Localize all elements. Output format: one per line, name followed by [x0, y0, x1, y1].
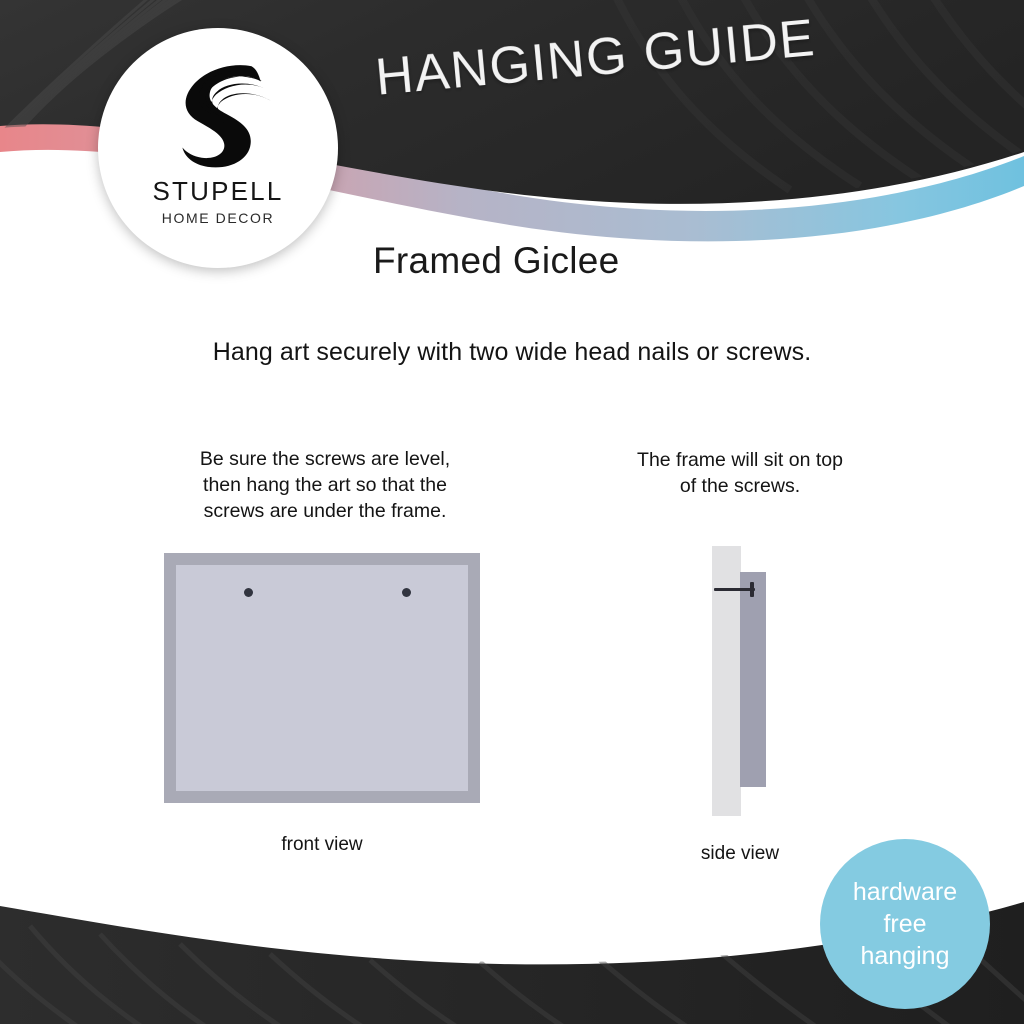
front-caption-line-1: Be sure the screws are level, [160, 446, 490, 472]
screw-dot-left-icon [244, 588, 253, 597]
side-view-wall [712, 546, 741, 816]
hanging-guide-page: STUPELL HOME DECOR HANGING GUIDE Framed … [0, 0, 1024, 1024]
front-view-art-panel [176, 565, 468, 791]
badge-line-2: free [883, 908, 926, 940]
brand-logo-badge: STUPELL HOME DECOR [98, 28, 338, 268]
front-view-caption: Be sure the screws are level, then hang … [160, 446, 490, 524]
badge-line-3: hanging [861, 940, 950, 972]
screw-dot-right-icon [402, 588, 411, 597]
badge-line-1: hardware [853, 876, 957, 908]
side-caption-line-2: of the screws. [596, 473, 884, 499]
front-view-label: front view [164, 834, 480, 856]
side-view-label: side view [640, 843, 840, 865]
stupell-swoosh-icon [157, 54, 279, 174]
hardware-free-hanging-badge: hardware free hanging [820, 839, 990, 1009]
front-view-frame-diagram [164, 553, 480, 803]
front-caption-line-3: screws are under the frame. [160, 498, 490, 524]
side-caption-line-1: The frame will sit on top [596, 447, 884, 473]
side-view-frame [740, 572, 766, 787]
brand-name: STUPELL [152, 176, 283, 207]
page-title: HANGING GUIDE [373, 8, 818, 108]
side-view-caption: The frame will sit on top of the screws. [596, 447, 884, 499]
lead-instruction: Hang art securely with two wide head nai… [0, 338, 1024, 367]
nail-head-icon [750, 582, 754, 597]
front-caption-line-2: then hang the art so that the [160, 472, 490, 498]
brand-tagline: HOME DECOR [162, 210, 274, 226]
nail-shaft-icon [714, 588, 755, 591]
product-type-subtitle: Framed Giclee [373, 240, 620, 282]
